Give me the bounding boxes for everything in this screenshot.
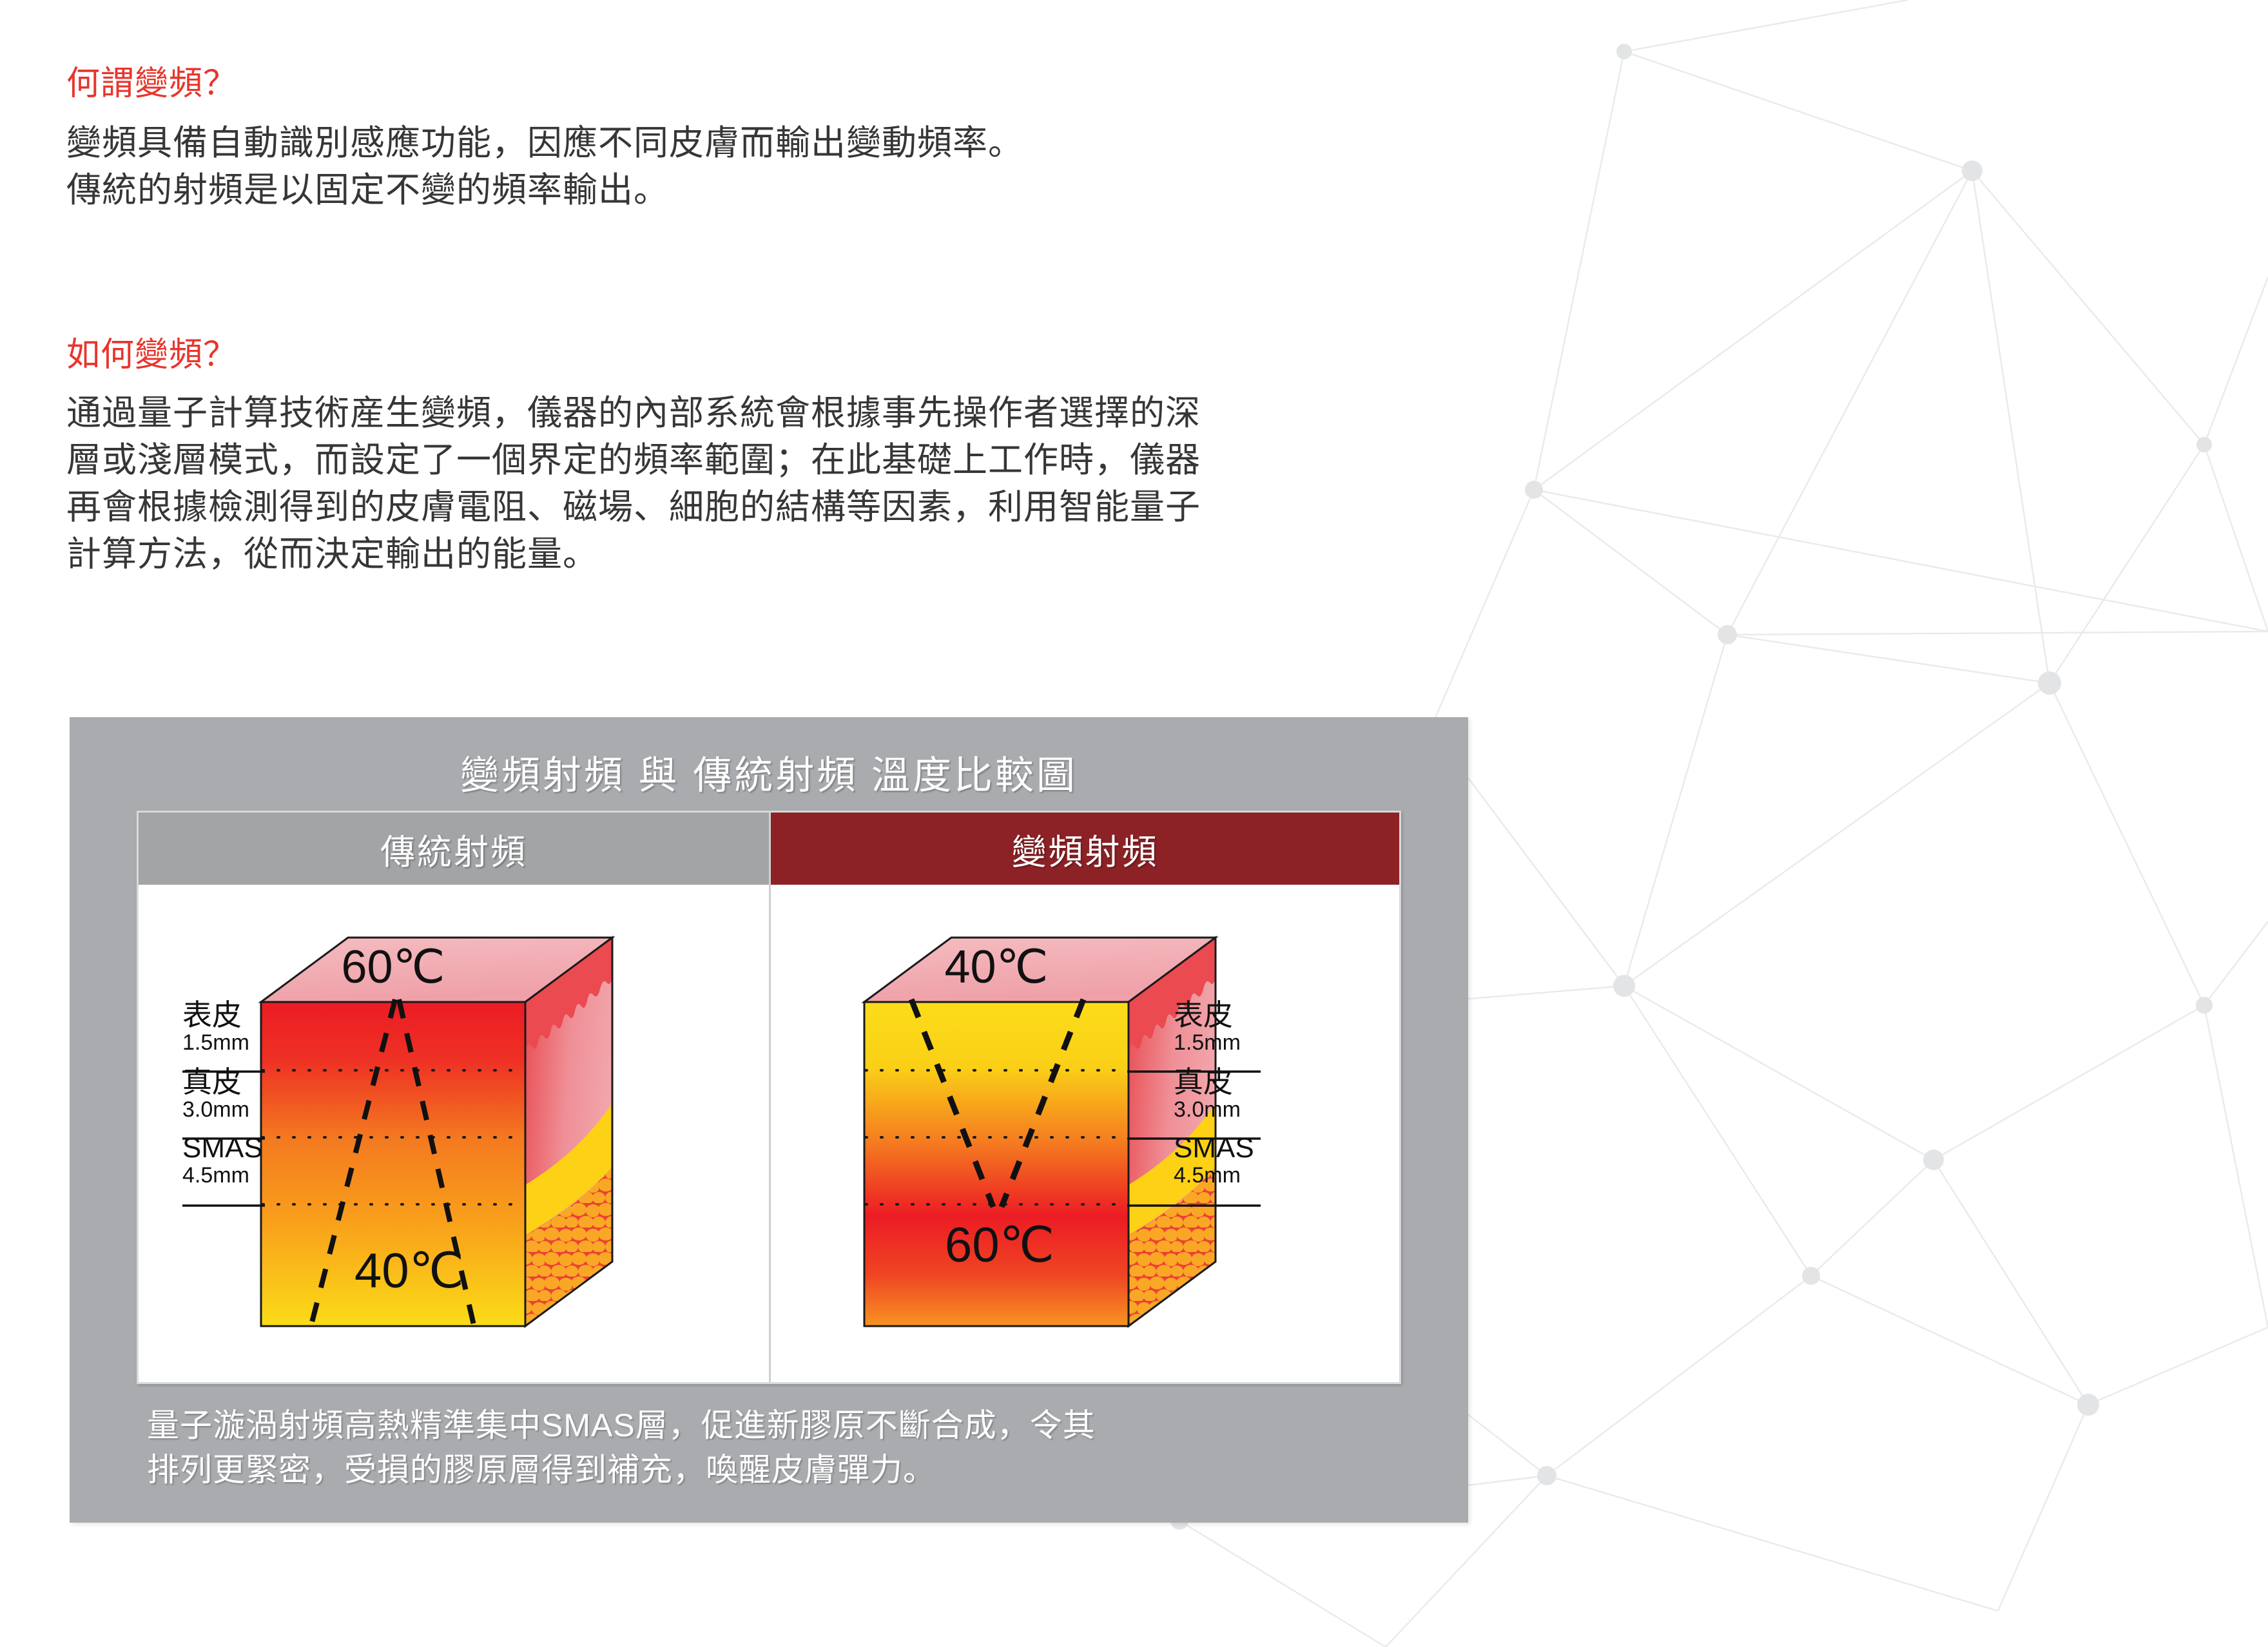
section-what-is-vf: 何謂變頻？ 變頻具備自動識別感應功能，因應不同皮膚而輸出變動頻率。 傳統的射頻是… — [66, 67, 1023, 214]
panel-body-variable-frequency: 40℃ 60℃ 表皮 1.5mm 真皮 3.0mm — [771, 885, 1399, 1382]
layer-depth: 4.5mm — [1174, 1164, 1277, 1188]
layer-label-group-smas-left: SMAS 4.5mm — [182, 1133, 271, 1188]
section-body-line: 通過量子計算技術産生變頻，儀器的內部系統會根據事先操作者選擇的深 — [66, 390, 1201, 437]
layer-name: 真皮 — [1174, 1066, 1270, 1098]
layer-depth: 1.5mm — [182, 1031, 265, 1055]
section-body-line: 傳統的射頻是以固定不變的頻率輸出。 — [66, 167, 1023, 214]
panel-body-traditional: 60℃ 40℃ 表皮 1.5mm 真皮 3.0mm — [139, 885, 769, 1382]
section-body-line: 再會根據檢測得到的皮膚電阻、磁場、細胞的結構等因素，利用智能量子 — [66, 484, 1201, 531]
figure-caption: 量子漩渦射頻高熱精準集中SMAS層，促進新膠原不斷合成，令其 排列更緊密，受損的… — [147, 1403, 1397, 1492]
layer-label-group-dermis-left: 真皮 3.0mm — [182, 1066, 265, 1122]
layer-label-group-epidermis-right: 表皮 1.5mm — [1174, 999, 1270, 1055]
comparison-panels: 傳統射頻 變頻射頻 — [137, 811, 1401, 1384]
panel-header-traditional: 傳統射頻 — [139, 813, 769, 885]
layer-label-group-epidermis-left: 表皮 1.5mm — [182, 999, 265, 1055]
skin-cube-variable-frequency: 40℃ 60℃ — [771, 885, 1399, 1382]
section-how-vf-works: 如何變頻？ 通過量子計算技術産生變頻，儀器的內部系統會根據事先操作者選擇的深 層… — [66, 338, 1201, 578]
figure-title: 變頻射頻 與 傳統射頻 溫度比較圖 — [70, 744, 1468, 800]
deep-temperature-label-traditional: 40℃ — [354, 1244, 464, 1298]
layer-label-group-dermis-right: 真皮 3.0mm — [1174, 1066, 1270, 1122]
layer-depth: 4.5mm — [182, 1164, 271, 1188]
layer-depth: 3.0mm — [182, 1098, 265, 1122]
layer-name: 真皮 — [182, 1066, 265, 1098]
deep-temperature-label-variable: 60℃ — [945, 1218, 1054, 1273]
surface-temperature-label-variable: 40℃ — [945, 941, 1049, 993]
caption-line: 量子漩渦射頻高熱精準集中SMAS層，促進新膠原不斷合成，令其 — [147, 1403, 1397, 1448]
layer-name: 表皮 — [182, 999, 265, 1031]
layer-name: 表皮 — [1174, 999, 1270, 1031]
surface-temperature-label-traditional: 60℃ — [342, 941, 445, 993]
layer-depth: 3.0mm — [1174, 1098, 1270, 1122]
section-heading: 何謂變頻？ — [66, 67, 1023, 101]
layer-name: SMAS — [1174, 1133, 1277, 1164]
section-heading: 如何變頻？ — [66, 338, 1201, 372]
layer-name: SMAS — [182, 1133, 271, 1164]
layer-label-group-smas-right: SMAS 4.5mm — [1174, 1133, 1277, 1188]
caption-line: 排列更緊密，受損的膠原層得到補充，喚醒皮膚彈力。 — [147, 1448, 1397, 1492]
cube-front-face — [864, 1002, 1129, 1326]
section-body-line: 變頻具備自動識別感應功能，因應不同皮膚而輸出變動頻率。 — [66, 120, 1023, 167]
poster-page: 何謂變頻？ 變頻具備自動識別感應功能，因應不同皮膚而輸出變動頻率。 傳統的射頻是… — [0, 0, 2268, 1647]
temperature-comparison-figure: 變頻射頻 與 傳統射頻 溫度比較圖 傳統射頻 變頻射頻 — [70, 717, 1468, 1523]
section-body-line: 計算方法，從而決定輸出的能量。 — [66, 531, 1201, 578]
layer-depth: 1.5mm — [1174, 1031, 1270, 1055]
panel-header-variable-frequency: 變頻射頻 — [771, 813, 1399, 885]
section-body-line: 層或淺層模式，而設定了一個界定的頻率範圍；在此基礎上工作時，儀器 — [66, 437, 1201, 484]
